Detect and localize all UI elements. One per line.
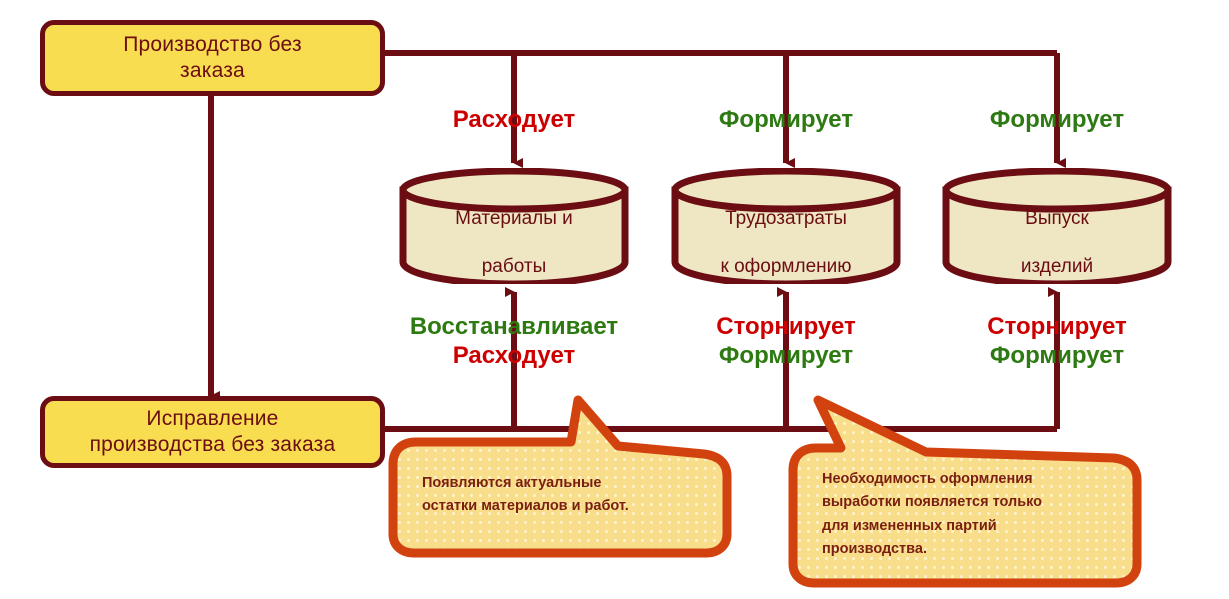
relation-label-top-labor: Формирует [666,106,906,134]
relation-text: Формирует [719,106,853,133]
data-store-materials[interactable]: Материалы и работы [398,168,630,284]
relation-text-primary: Сторнирует [937,312,1177,341]
relation-text-secondary: Расходует [374,341,654,370]
data-store-labor[interactable]: Трудозатраты к оформлению [670,168,902,284]
process-box-production[interactable]: Производство без заказа [40,20,385,96]
relation-label-bottom-materials: Восстанавливает Расходует [374,312,654,371]
relation-text-secondary: Формирует [666,341,906,370]
relation-label-top-output: Формирует [937,106,1177,134]
process-label-line2: заказа [113,58,312,84]
process-box-production-label: Производство без заказа [103,32,322,83]
relation-text-primary: Восстанавливает [374,312,654,341]
process-label-line2: производства без заказа [80,432,346,458]
relation-label-bottom-output: Сторнирует Формирует [937,312,1177,371]
relation-text: Расходует [453,106,576,133]
relation-text-secondary: Формирует [937,341,1177,370]
process-label-line1: Производство без [113,32,312,58]
diagram-canvas: Производство без заказа Исправление прои… [0,0,1229,599]
relation-text: Формирует [990,106,1124,133]
relation-label-bottom-labor: Сторнирует Формирует [666,312,906,371]
relation-text-primary: Сторнирует [666,312,906,341]
callout-labor-note[interactable]: Необходимость оформления выработки появл… [786,392,1144,590]
process-box-correction-label: Исправление производства без заказа [70,406,356,457]
data-store-output[interactable]: Выпуск изделий [941,168,1173,284]
relation-label-top-materials: Расходует [394,106,634,134]
process-box-correction[interactable]: Исправление производства без заказа [40,396,385,468]
callout-materials-note[interactable]: Появляются актуальные остатки материалов… [386,392,734,558]
process-label-line1: Исправление [80,406,346,432]
